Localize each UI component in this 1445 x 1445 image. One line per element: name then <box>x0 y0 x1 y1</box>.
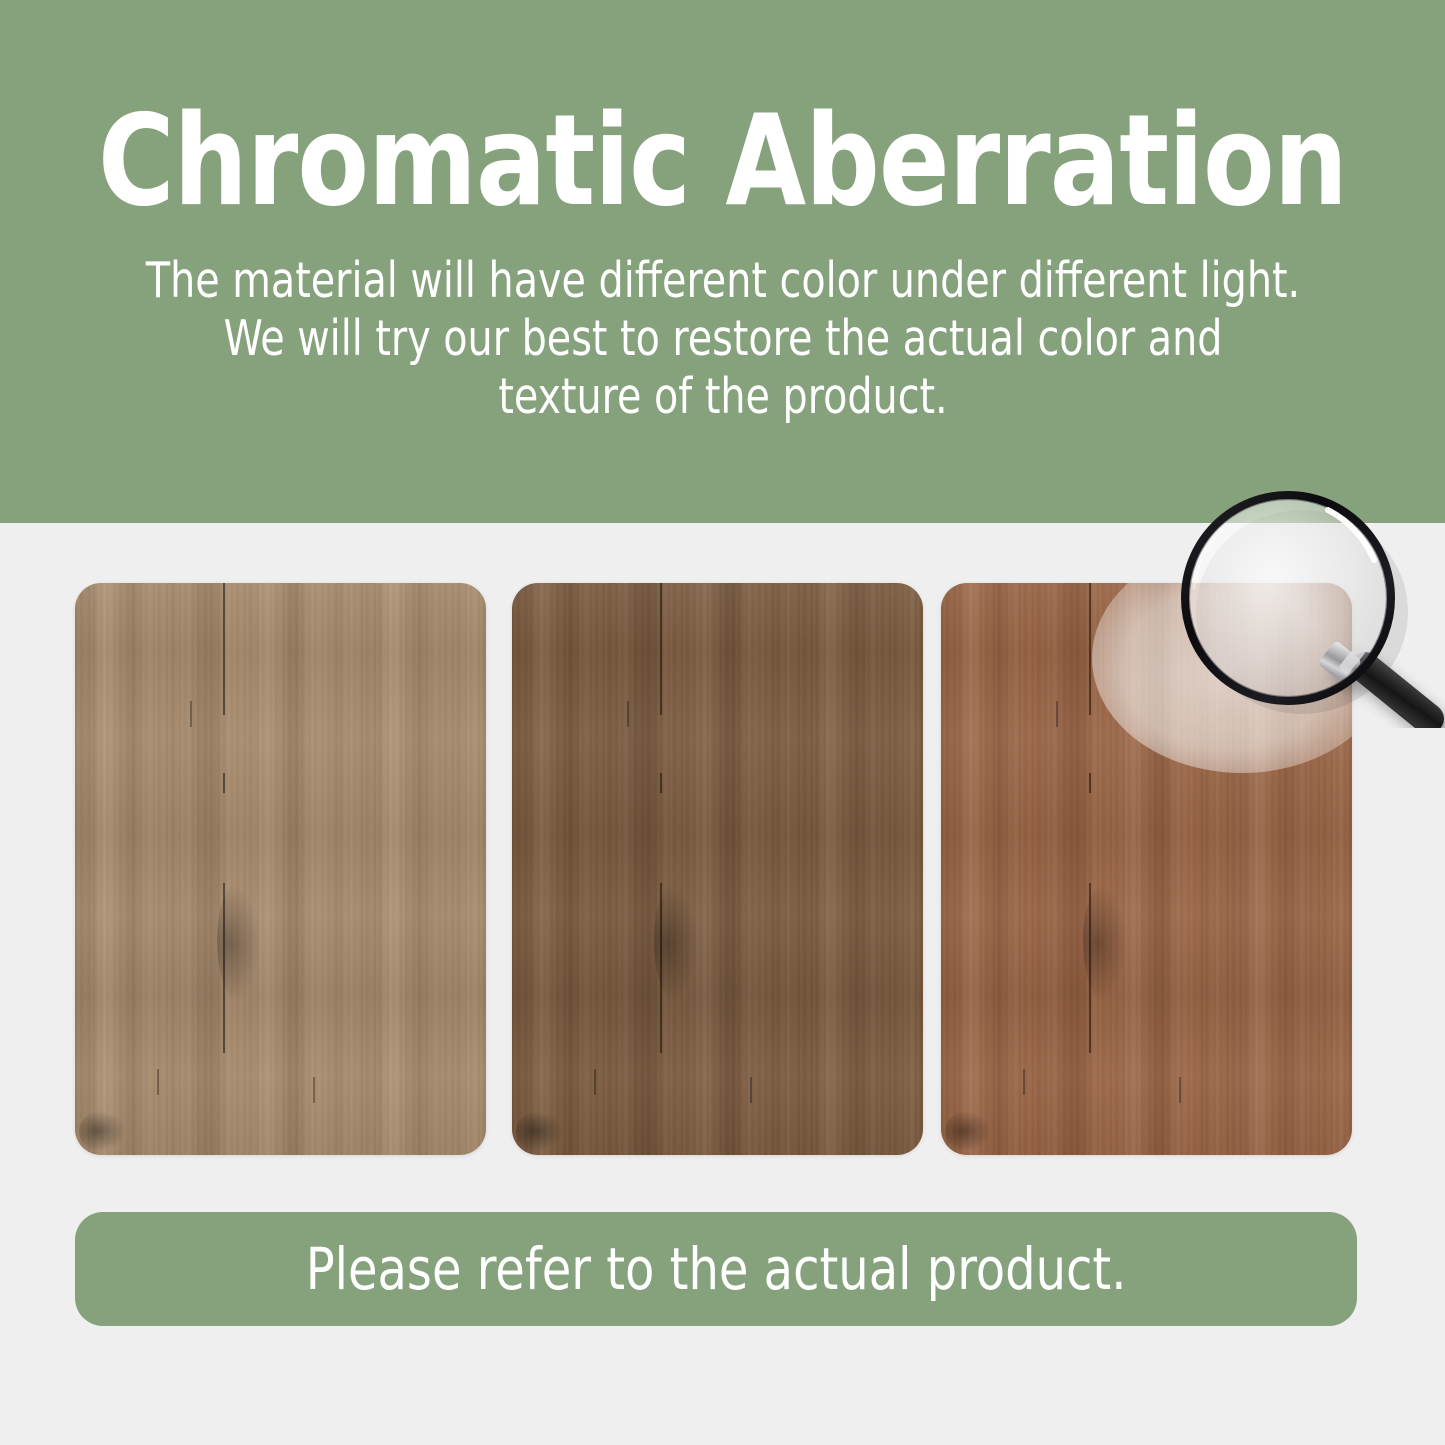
wood-knot <box>516 1111 562 1151</box>
wood-crack <box>660 583 662 715</box>
wood-nick <box>313 1077 315 1103</box>
grain-mottle <box>512 583 923 1155</box>
wood-knot <box>1083 883 1127 1003</box>
wood-nick <box>190 701 192 727</box>
wood-swatch-red-oak <box>941 583 1352 1155</box>
wood-nick <box>594 1069 596 1095</box>
chromatic-aberration-infographic: Chromatic Aberration The material will h… <box>0 0 1445 1445</box>
grain-mottle <box>75 583 486 1155</box>
wood-knot <box>217 883 261 1003</box>
subtitle-line-2: We will try our best to restore the actu… <box>93 310 1353 368</box>
wood-crack <box>660 773 662 793</box>
footer-banner-text: Please refer to the actual product. <box>306 1238 1127 1300</box>
wood-nick <box>157 1069 159 1095</box>
wood-grain-texture <box>941 583 1352 1155</box>
subtitle-line-1: The material will have different color u… <box>93 252 1353 310</box>
wood-crack <box>223 583 225 715</box>
wood-crack <box>1089 773 1091 793</box>
wood-nick <box>627 701 629 727</box>
wood-knot <box>79 1111 125 1151</box>
wood-crack <box>1089 583 1091 715</box>
wood-nick <box>1056 701 1058 727</box>
footer-banner: Please refer to the actual product. <box>75 1212 1357 1326</box>
wood-grain-texture <box>75 583 486 1155</box>
wood-grain-texture <box>512 583 923 1155</box>
wood-swatch-dark-walnut <box>512 583 923 1155</box>
wood-nick <box>750 1077 752 1103</box>
wood-swatch-light-oak <box>75 583 486 1155</box>
wood-knot <box>654 883 698 1003</box>
subtitle-line-3: texture of the product. <box>93 368 1353 426</box>
header-banner: Chromatic Aberration The material will h… <box>0 0 1445 523</box>
wood-knot <box>945 1111 991 1151</box>
wood-nick <box>1179 1077 1181 1103</box>
wood-crack <box>223 773 225 793</box>
header-subtitle: The material will have different color u… <box>93 252 1353 426</box>
page-title: Chromatic Aberration <box>58 96 1387 226</box>
wood-nick <box>1023 1069 1025 1095</box>
